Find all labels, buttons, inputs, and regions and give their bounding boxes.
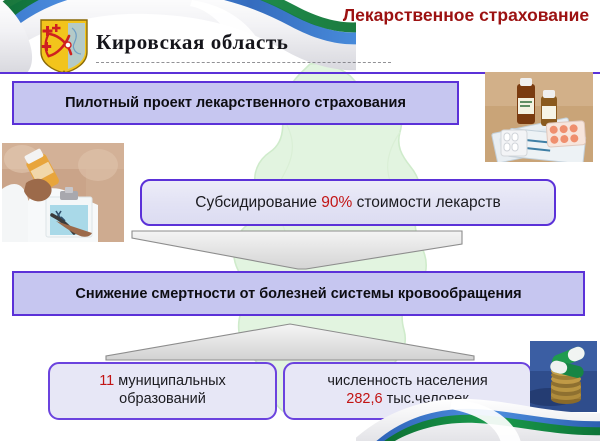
flow-box-subsidy[interactable]: Субсидирование 90% стоимости лекарств [140, 179, 556, 226]
chevron-down-arrow-icon [130, 228, 464, 272]
page-title: Лекарственное страхование [338, 5, 594, 27]
presentation-slide: Кировская область Лекарственное страхова… [0, 0, 600, 441]
flow-box-population-line1: численность населения [327, 373, 487, 389]
flow-box-municipalities-value: 11 [99, 373, 114, 389]
flow-box-mortality-reduction-label: Снижение смертности от болезней системы … [75, 286, 521, 302]
flow-box-subsidy-value: 90% [321, 194, 352, 211]
flow-box-municipalities-text: 11 муниципальных образований [99, 373, 226, 408]
flow-box-municipalities[interactable]: 11 муниципальных образований [48, 362, 277, 420]
flow-box-pilot-project[interactable]: Пилотный проект лекарственного страхован… [12, 81, 459, 125]
region-name-underline [96, 62, 391, 63]
flow-box-subsidy-text: Субсидирование 90% стоимости лекарств [195, 194, 501, 212]
flow-box-population-text: численность населения 282,6 тыс.человек [327, 373, 487, 408]
flow-box-municipalities-line1: муниципальных [114, 373, 226, 389]
flow-box-subsidy-prefix: Субсидирование [195, 194, 321, 211]
kirov-oblast-coat-of-arms-icon [38, 18, 90, 74]
region-name: Кировская область [96, 30, 289, 55]
flow-box-mortality-reduction[interactable]: Снижение смертности от болезней системы … [12, 271, 585, 316]
photo-pharmacist-writing-prescription [2, 143, 124, 242]
flow-box-population-value: 282,6 [346, 391, 382, 407]
flow-box-municipalities-line2: образований [119, 391, 206, 407]
photo-capsules-on-coin-stack [530, 341, 597, 412]
flow-box-population-line2: тыс.человек [383, 391, 469, 407]
flow-box-subsidy-suffix: стоимости лекарств [352, 194, 500, 211]
photo-medicine-bottles-pills-banknotes [485, 72, 593, 162]
flow-box-pilot-project-label: Пилотный проект лекарственного страхован… [65, 95, 406, 111]
chevron-up-arrow-icon [104, 320, 476, 362]
flow-box-population[interactable]: численность населения 282,6 тыс.человек [283, 362, 532, 420]
